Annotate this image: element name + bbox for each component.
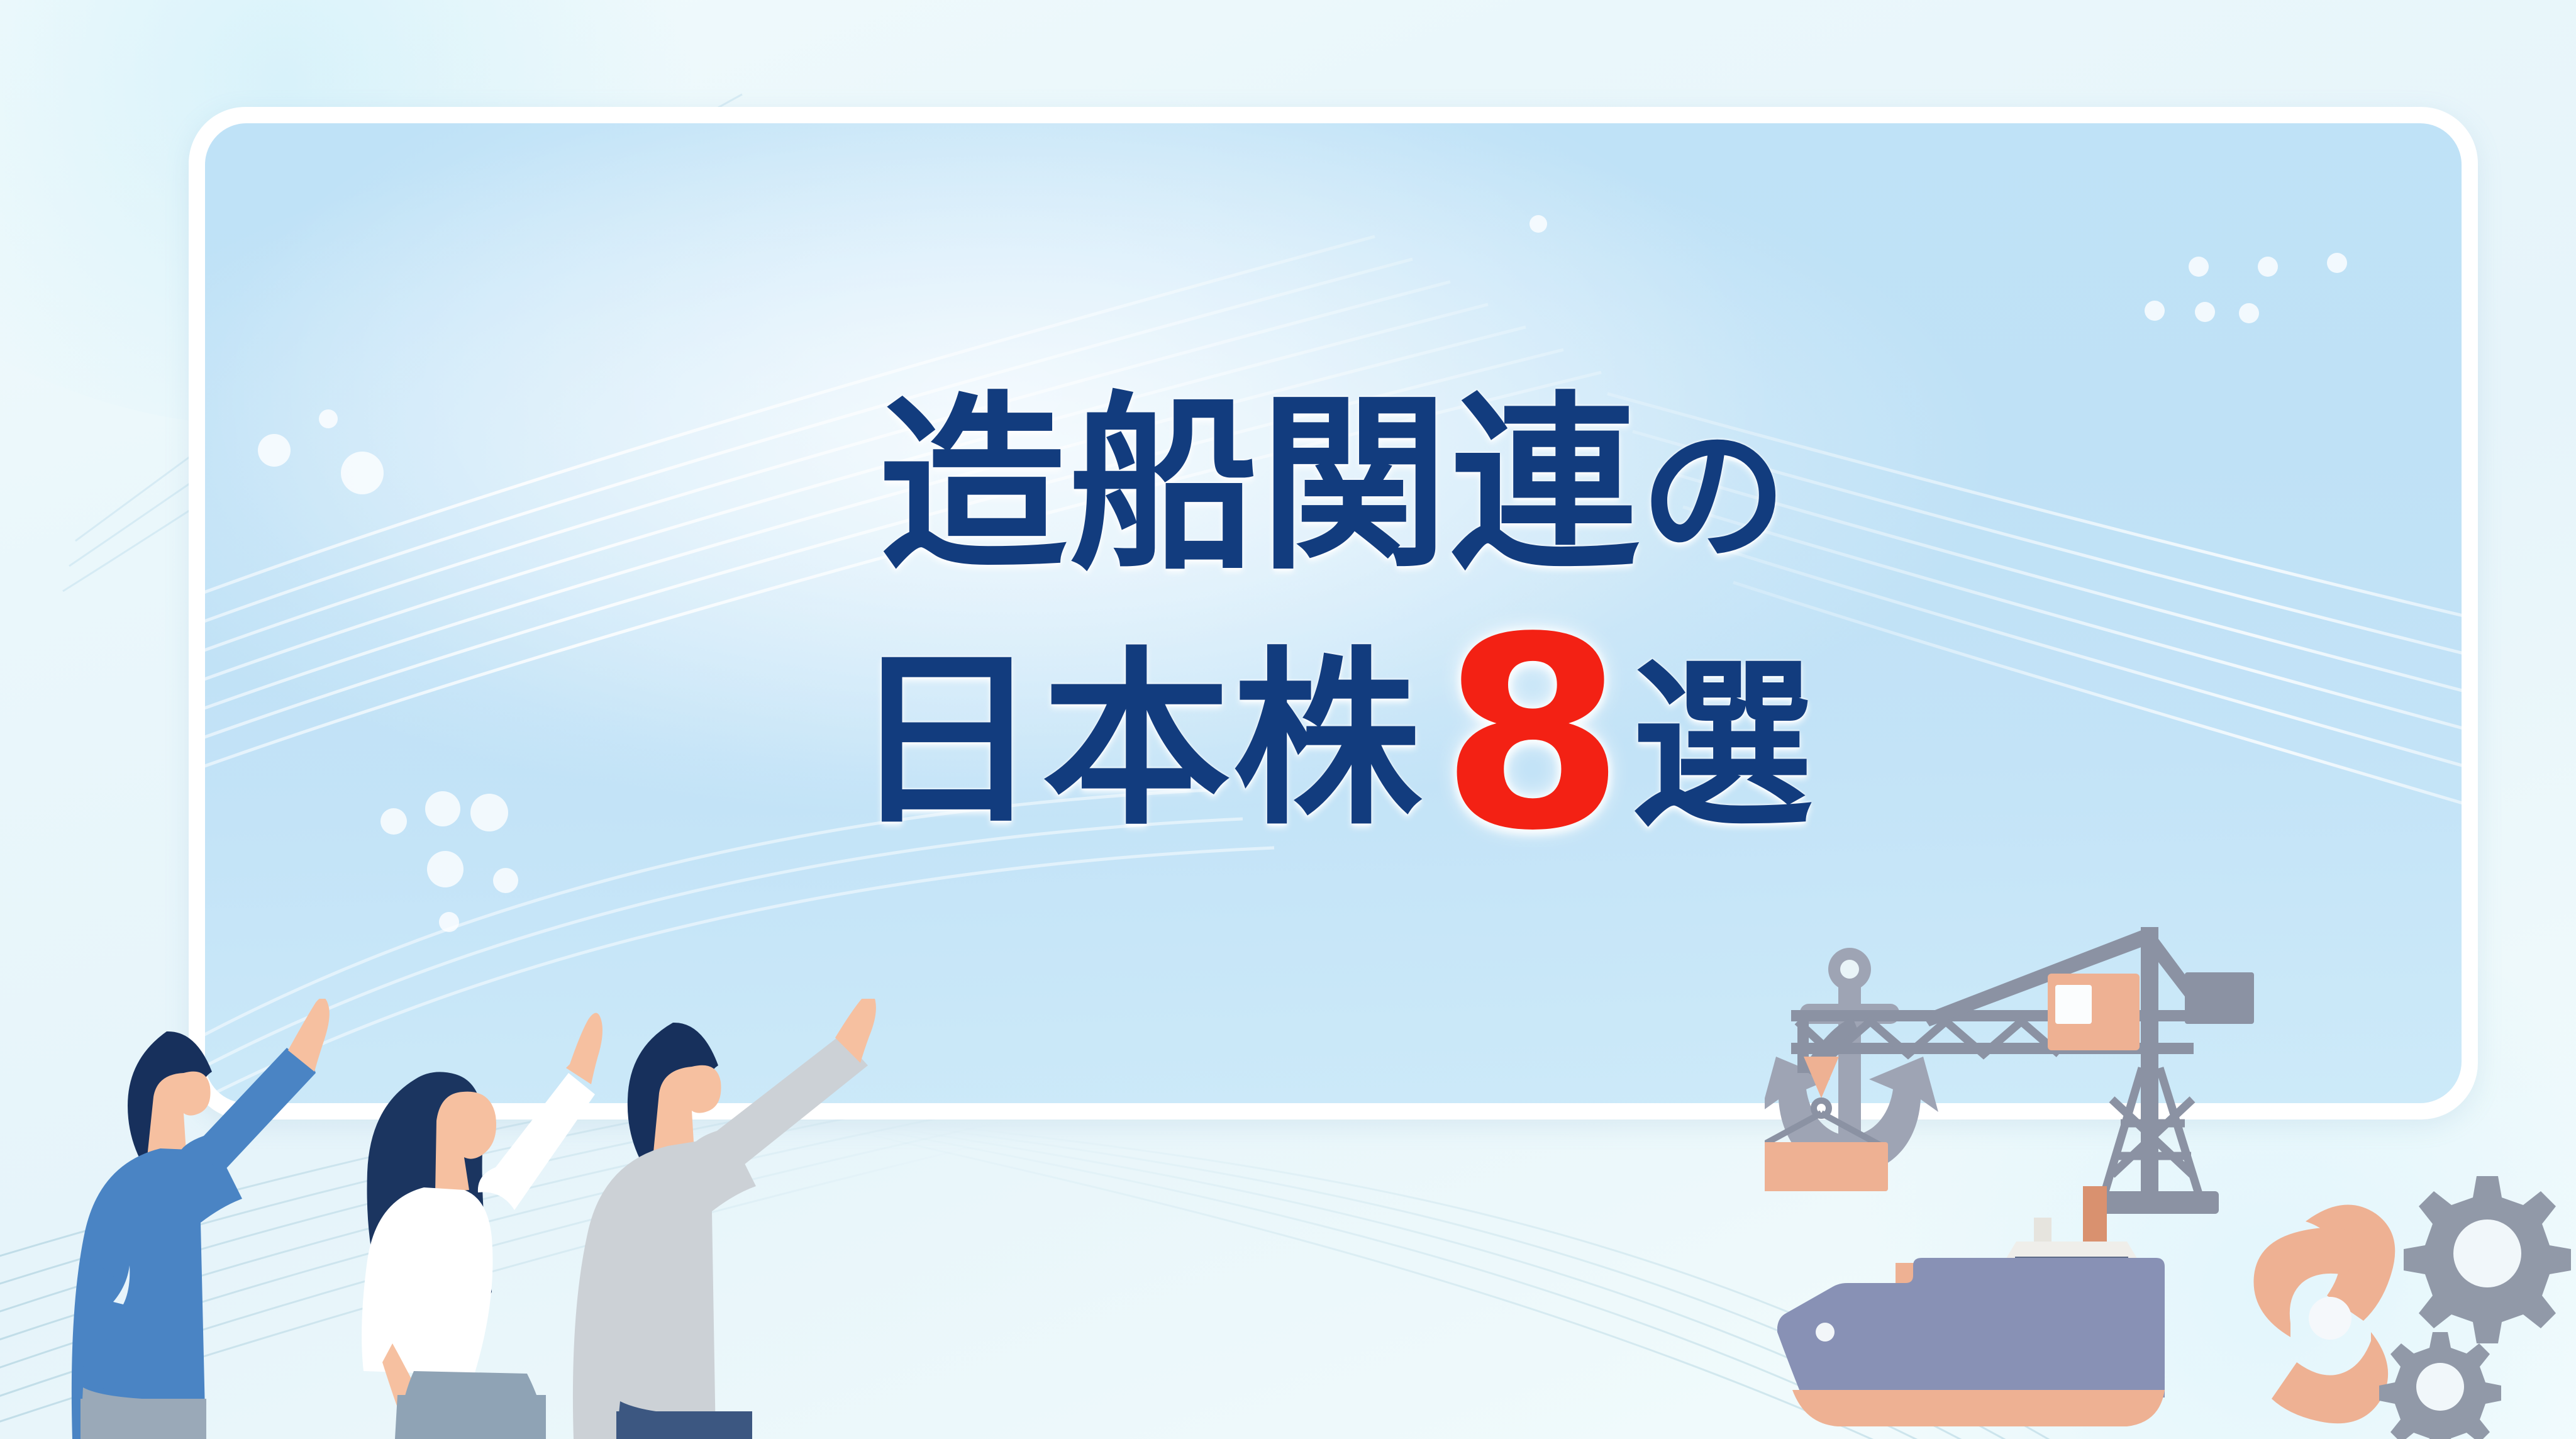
poster-canvas: 造 船 関 連 の 日 本 株 8 選 <box>0 0 2576 1439</box>
headline-char-sen: 船 <box>1069 391 1260 580</box>
headline-number-eight: 8 <box>1441 616 1624 854</box>
cargo-ship-icon <box>1777 1186 2165 1426</box>
headline-line-2: 日 本 株 8 選 <box>852 596 1815 835</box>
headline-char-kabu: 株 <box>1233 647 1423 835</box>
figure-man-grey-sweater <box>573 999 876 1439</box>
figure-man-blue-sweater <box>72 999 330 1439</box>
figure-woman-white-top <box>362 1013 602 1439</box>
headline-suffix-sen: 選 <box>1631 656 1815 838</box>
headline-char-ren: 連 <box>1450 391 1641 580</box>
headline-char-hon: 本 <box>1042 647 1233 835</box>
people-illustration <box>38 999 981 1439</box>
headline-particle-no: の <box>1641 423 1788 569</box>
anchor-icon <box>1765 948 1938 1175</box>
propeller-icon <box>2253 1205 2395 1424</box>
headline-char-nichi: 日 <box>852 647 1042 835</box>
gear-small-icon <box>2379 1332 2501 1439</box>
headline-char-zou: 造 <box>879 391 1069 580</box>
gear-large-icon <box>2404 1176 2571 1343</box>
maritime-icons-illustration <box>1765 892 2576 1439</box>
headline-char-kan: 関 <box>1260 391 1450 580</box>
headline-line-1: 造 船 関 連 の <box>879 391 1788 580</box>
